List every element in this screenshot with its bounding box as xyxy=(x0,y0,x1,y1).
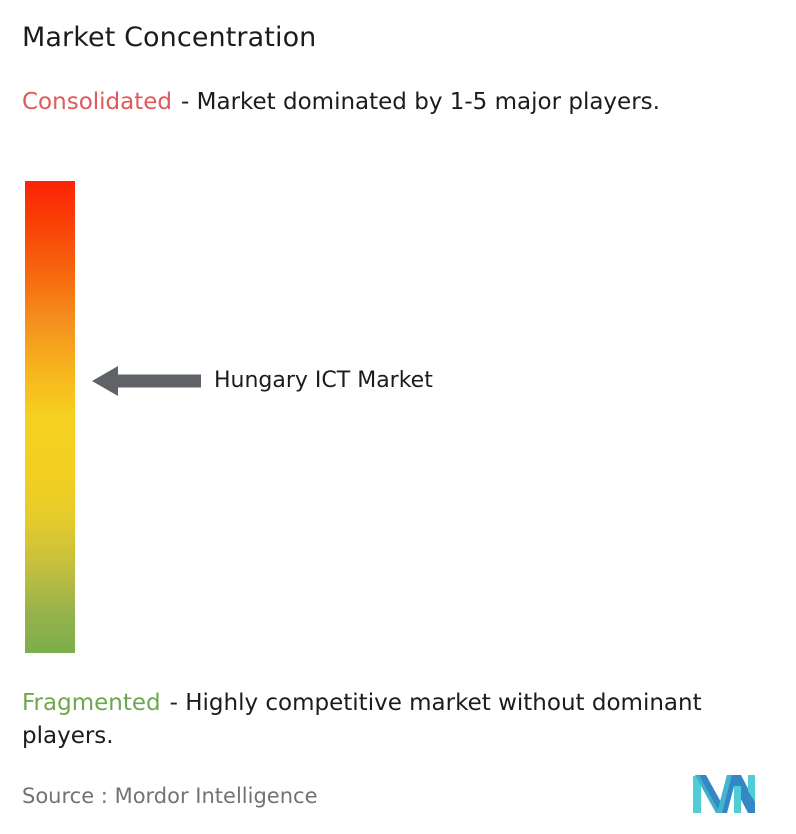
source-line: Source : Mordor Intelligence xyxy=(22,782,317,810)
consolidated-caption: Consolidated- Market dominated by 1-5 ma… xyxy=(22,86,762,119)
market-position-pointer: Hungary ICT Market xyxy=(92,362,433,400)
fragmented-caption: Fragmented- Highly competitive market wi… xyxy=(22,687,784,753)
mordor-intelligence-logo-icon xyxy=(693,770,755,813)
consolidated-keyword: Consolidated xyxy=(22,89,172,115)
concentration-gradient-bar xyxy=(25,181,75,653)
page-title: Market Concentration xyxy=(22,20,316,56)
market-position-label: Hungary ICT Market xyxy=(214,368,433,394)
consolidated-description: - Market dominated by 1-5 major players. xyxy=(181,89,660,115)
fragmented-keyword: Fragmented xyxy=(22,690,161,716)
left-arrow-icon xyxy=(92,362,201,400)
source-value: Mordor Intelligence xyxy=(115,784,318,808)
source-label: Source : xyxy=(22,784,108,808)
market-concentration-infographic: Market Concentration Consolidated- Marke… xyxy=(0,0,796,834)
